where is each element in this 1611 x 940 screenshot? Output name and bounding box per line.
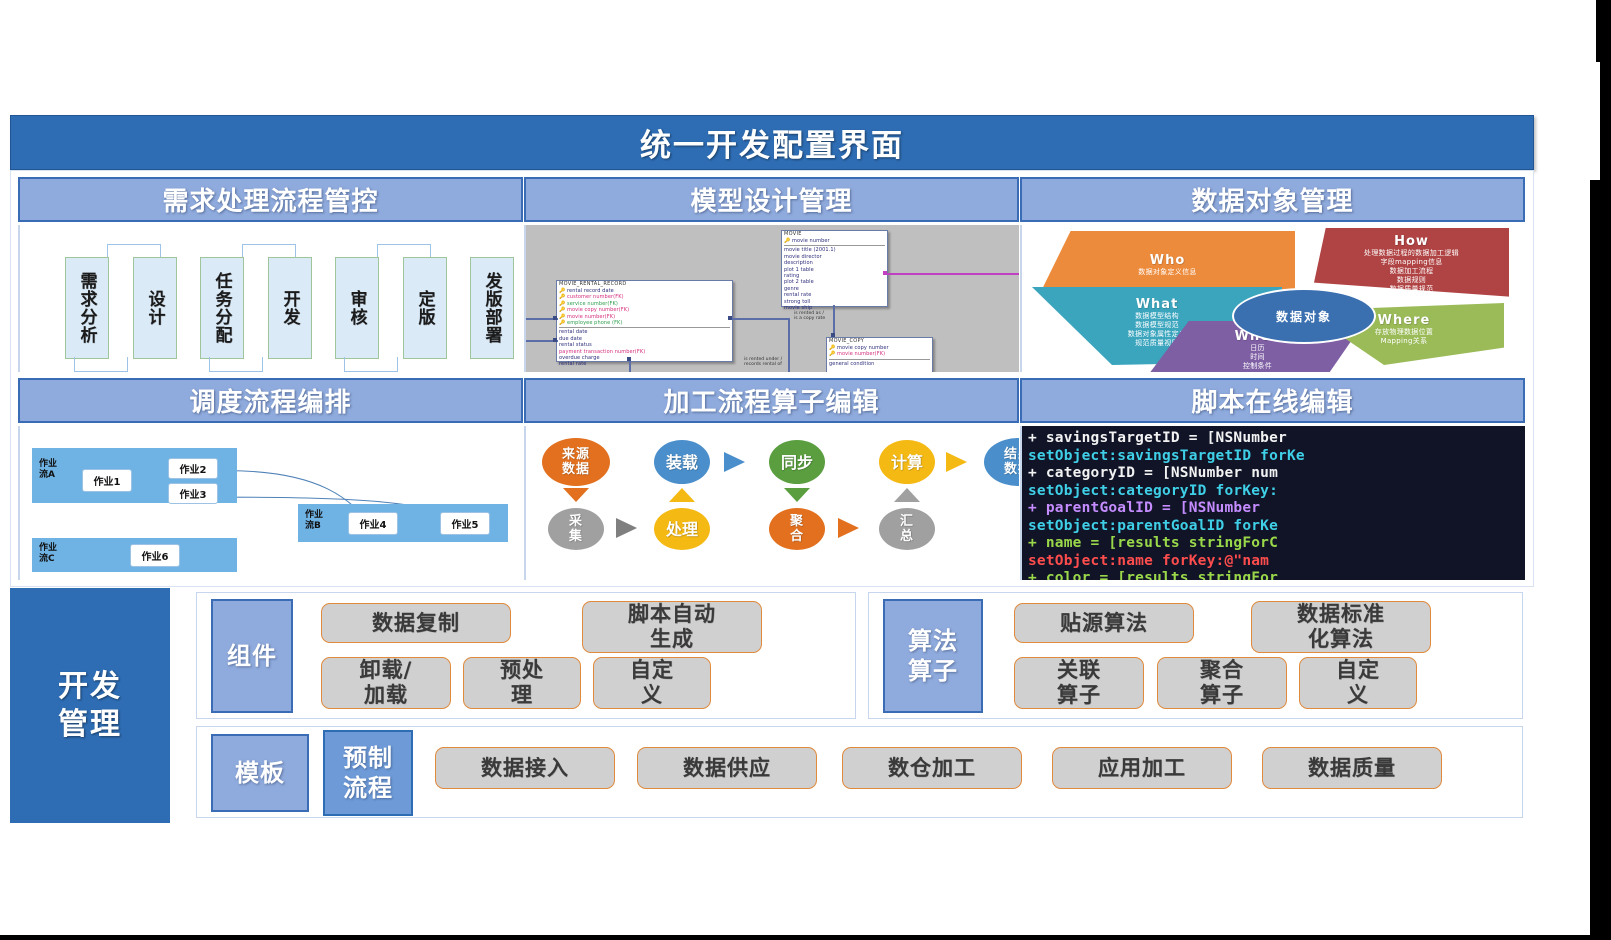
chip-preprocess[interactable]: 预处理 (463, 657, 581, 709)
panel-header-schedule: 调度流程编排 (18, 378, 523, 423)
panel-title-schedule: 调度流程编排 (189, 382, 351, 419)
category-preset-flow[interactable]: 预制流程 (323, 730, 413, 816)
job-node-3[interactable]: 作业3 (168, 483, 218, 504)
category-label: 模板 (235, 758, 285, 788)
panel-header-data-object: 数据对象管理 (1020, 177, 1525, 222)
panel-body-requirement: 需求分析 设计 任务分配 开发 审核 定版 发版部署 (18, 225, 523, 372)
arrow-up-yellow-icon (669, 488, 695, 502)
arrow-right-orange-icon (838, 518, 859, 538)
er-table-movie-copy[interactable]: MOVIE_COPY 🔑 movie copy number 🔑 movie n… (826, 337, 933, 372)
job-group-label: 作业流B (305, 510, 323, 532)
panel-header-operator: 加工流程算子编辑 (524, 378, 1019, 423)
panel-title-model: 模型设计管理 (690, 181, 852, 218)
operator-result-data[interactable]: 结果 数据 (984, 438, 1019, 486)
code-line: setObject:name forKey:@"nam (1028, 553, 1525, 571)
pie-slice-line: 控制条件 (1150, 362, 1365, 371)
pie-slice-line: 数据对象定义信息 (1040, 268, 1295, 277)
chip-unload-load[interactable]: 卸载/加载 (321, 657, 451, 709)
er-relation-label-0: is rented as /is a copy rate (794, 311, 825, 322)
panel-requirement-flow: 需求处理流程管控 需求分析 设计 任务分配 开发 (18, 177, 523, 372)
code-line: setObject:parentGoalID forKe (1028, 518, 1525, 536)
operator-label-line1: 聚 (790, 514, 804, 529)
dev-management-title-block: 开发管理 (10, 588, 170, 823)
code-line: setObject:categoryID forKey: (1028, 483, 1525, 501)
panel-body-model: MOVIE 🔑 movie number movie title (2001.1… (524, 225, 1019, 372)
arrow-down-green-icon (784, 488, 810, 502)
category-templates[interactable]: 模板 (211, 734, 309, 812)
chip-data-ingestion[interactable]: 数据接入 (435, 747, 615, 789)
operator-aggregate[interactable]: 聚 合 (769, 508, 825, 550)
er-table-movie[interactable]: MOVIE 🔑 movie number movie title (2001.1… (781, 230, 888, 307)
job-group-label: 作业流A (39, 459, 57, 481)
data-object-pie-chart: Who 数据对象定义信息 What 数据模型结构 数据模型规范 数据对象属性定义… (1022, 225, 1525, 372)
operator-label-line1: 汇 (900, 514, 914, 529)
req-step-1[interactable]: 设计 (133, 257, 177, 359)
job-node-1[interactable]: 作业1 (82, 469, 132, 492)
dev-row-templates: 模板 预制流程 数据接入 数据供应 数仓加工 应用加工 数据质量 (196, 726, 1523, 818)
arrow-right-blue-icon (724, 452, 745, 472)
chip-source-algorithm[interactable]: 贴源算法 (1014, 603, 1194, 643)
panel-title-script: 脚本在线编辑 (1191, 382, 1353, 419)
dev-management-title: 开发管理 (58, 668, 122, 744)
category-algorithm-operators[interactable]: 算法算子 (883, 599, 983, 713)
chip-custom-operator[interactable]: 自定义 (1299, 657, 1417, 709)
code-line: + savingsTargetID = [NSNumber (1028, 430, 1525, 448)
panel-body-data-object: Who 数据对象定义信息 What 数据模型结构 数据模型规范 数据对象属性定义… (1020, 225, 1525, 372)
page-title-bar: 统一开发配置界面 (10, 115, 1534, 170)
panel-model-design: 模型设计管理 MOVIE 🔑 movie number movie title … (524, 177, 1019, 372)
code-editor[interactable]: + savingsTargetID = [NSNumber setObject:… (1022, 426, 1525, 580)
dev-row-algorithms: 算法算子 贴源算法 数据标准化算法 关联算子 聚合算子 自定义 (868, 592, 1523, 719)
arrow-down-orange-icon (563, 488, 589, 502)
panel-body-schedule: 作业流A 作业1 作业2 作业3 作业流B 作业4 作业5 作业流C 作业6 (18, 426, 523, 580)
req-step-2[interactable]: 任务分配 (200, 257, 244, 359)
panel-title-requirement: 需求处理流程管控 (162, 181, 378, 218)
req-step-3[interactable]: 开发 (268, 257, 312, 359)
page-title: 统一开发配置界面 (640, 120, 904, 165)
panel-body-script: + savingsTargetID = [NSNumber setObject:… (1020, 426, 1525, 580)
panel-header-script: 脚本在线编辑 (1020, 378, 1525, 423)
panel-script-editor: 脚本在线编辑 + savingsTargetID = [NSNumber set… (1020, 378, 1525, 580)
chip-custom-component[interactable]: 自定义 (593, 657, 711, 709)
job-node-2[interactable]: 作业2 (168, 458, 218, 479)
operator-collect[interactable]: 采 集 (548, 508, 604, 550)
operator-label-line1: 结果 (1004, 447, 1019, 462)
pie-slice-line: 字段mapping信息 (1314, 258, 1509, 267)
pie-slice-label-en: Who (1040, 253, 1295, 268)
right-lower-black-border (1590, 180, 1600, 940)
code-line: setObject:savingsTargetID forKe (1028, 448, 1525, 466)
pie-slice-line: 数据规则 (1314, 276, 1509, 285)
req-step-label: 需求分析 (75, 272, 100, 344)
right-top-black-border (1596, 0, 1600, 62)
panel-schedule-flow: 调度流程编排 作业流A 作业1 作业2 作业3 (18, 378, 523, 580)
panel-frame: 需求处理流程管控 需求分析 设计 任务分配 开发 (10, 170, 1534, 587)
panel-header-model: 模型设计管理 (524, 177, 1019, 222)
operator-label-line1: 来源 (562, 447, 590, 462)
operator-label-line2: 集 (569, 529, 583, 544)
operator-summarize[interactable]: 汇 总 (879, 508, 935, 550)
chip-script-auto-generation[interactable]: 脚本自动生成 (582, 601, 762, 653)
chip-association-operator[interactable]: 关联算子 (1014, 657, 1144, 709)
pie-slice-line: 时间 (1150, 353, 1365, 362)
chip-warehouse-processing[interactable]: 数仓加工 (842, 747, 1022, 789)
code-line: + color = [results stringFor (1028, 570, 1525, 580)
job-group-label: 作业流C (39, 543, 57, 565)
req-step-4[interactable]: 审核 (335, 257, 379, 359)
right-black-border (1600, 0, 1611, 940)
operator-label-line2: 总 (900, 529, 914, 544)
operator-source-data[interactable]: 来源 数据 (542, 438, 610, 486)
req-step-label: 开发 (278, 290, 303, 326)
req-step-label: 设计 (143, 290, 168, 326)
pie-center-hub[interactable]: 数据对象 (1232, 288, 1376, 344)
panel-header-requirement: 需求处理流程管控 (18, 177, 523, 222)
chip-data-quality[interactable]: 数据质量 (1262, 747, 1442, 789)
slide-canvas: 统一开发配置界面 需求处理流程管控 需求分析 设计 (0, 0, 1600, 935)
bottom-black-border (0, 935, 1611, 940)
operator-label-line2: 合 (790, 529, 804, 544)
code-line: + parentGoalID = [NSNumber (1028, 500, 1525, 518)
req-step-label: 任务分配 (210, 272, 235, 344)
operator-label-line2: 数据 (1004, 462, 1019, 477)
operator-process[interactable]: 处理 (654, 508, 710, 550)
code-line: + name = [results stringForC (1028, 535, 1525, 553)
er-table-movie-rental-record[interactable]: MOVIE_RENTAL_RECORD 🔑 rental record date… (556, 280, 733, 362)
dev-row-components: 组件 数据复制 脚本自动生成 卸载/加载 预处理 自定义 (196, 592, 856, 719)
pie-slice-line: 处理数据过程的数据加工逻辑 (1314, 249, 1509, 258)
req-step-label: 发版部署 (480, 272, 505, 344)
req-step-label: 定版 (413, 290, 438, 326)
category-label: 预制流程 (343, 743, 393, 803)
er-relation-label-1: is rented under /records rental of (744, 357, 782, 368)
chip-aggregation-operator[interactable]: 聚合算子 (1157, 657, 1287, 709)
category-components[interactable]: 组件 (211, 599, 293, 713)
job-node-4[interactable]: 作业4 (348, 512, 398, 535)
pie-slice-line: 日历 (1150, 344, 1365, 353)
operator-sync[interactable]: 同步 (769, 440, 825, 484)
req-step-5[interactable]: 定版 (403, 257, 447, 359)
chip-data-standardization-algorithm[interactable]: 数据标准化算法 (1251, 601, 1431, 653)
category-label: 算法算子 (908, 626, 958, 686)
panel-title-operator: 加工流程算子编辑 (663, 382, 879, 419)
arrow-right-gray-icon (616, 518, 637, 538)
category-label: 组件 (227, 641, 277, 671)
req-step-0[interactable]: 需求分析 (65, 257, 109, 359)
arrow-up-gray-icon (894, 488, 920, 502)
chip-application-processing[interactable]: 应用加工 (1052, 747, 1232, 789)
panel-body-operator: 来源 数据 装载 同步 计算 结果 数据 采 (524, 426, 1019, 580)
req-step-6[interactable]: 发版部署 (470, 257, 514, 359)
pie-slice-line: 数据加工流程 (1314, 267, 1509, 276)
chip-data-replication[interactable]: 数据复制 (321, 603, 511, 643)
job-node-5[interactable]: 作业5 (440, 512, 490, 535)
job-node-6[interactable]: 作业6 (130, 544, 180, 567)
operator-label-line1: 采 (569, 514, 583, 529)
pie-center-label: 数据对象 (1276, 308, 1332, 325)
panel-data-object: 数据对象管理 Who 数据对象定义信息 What (1020, 177, 1525, 372)
panel-operator-editor: 加工流程算子编辑 来源 数据 装载 同步 计算 结果 数据 (524, 378, 1019, 580)
operator-label-line2: 数据 (562, 462, 590, 477)
pie-slice-label-en: How (1314, 234, 1509, 249)
operator-load[interactable]: 装载 (654, 440, 710, 484)
arrow-right-yellow-icon (946, 452, 967, 472)
dev-management-section: 开发管理 组件 数据复制 脚本自动生成 卸载/加载 预处理 自定义 算法算子 贴… (10, 588, 1555, 823)
panel-title-data-object: 数据对象管理 (1191, 181, 1353, 218)
chip-data-supply[interactable]: 数据供应 (637, 747, 817, 789)
operator-compute[interactable]: 计算 (879, 440, 935, 484)
dev-management-content: 组件 数据复制 脚本自动生成 卸载/加载 预处理 自定义 算法算子 贴源算法 数… (178, 588, 1555, 823)
er-diagram: MOVIE 🔑 movie number movie title (2001.1… (526, 225, 1019, 372)
req-step-label: 审核 (345, 290, 370, 326)
code-line: + categoryID = [NSNumber num (1028, 465, 1525, 483)
